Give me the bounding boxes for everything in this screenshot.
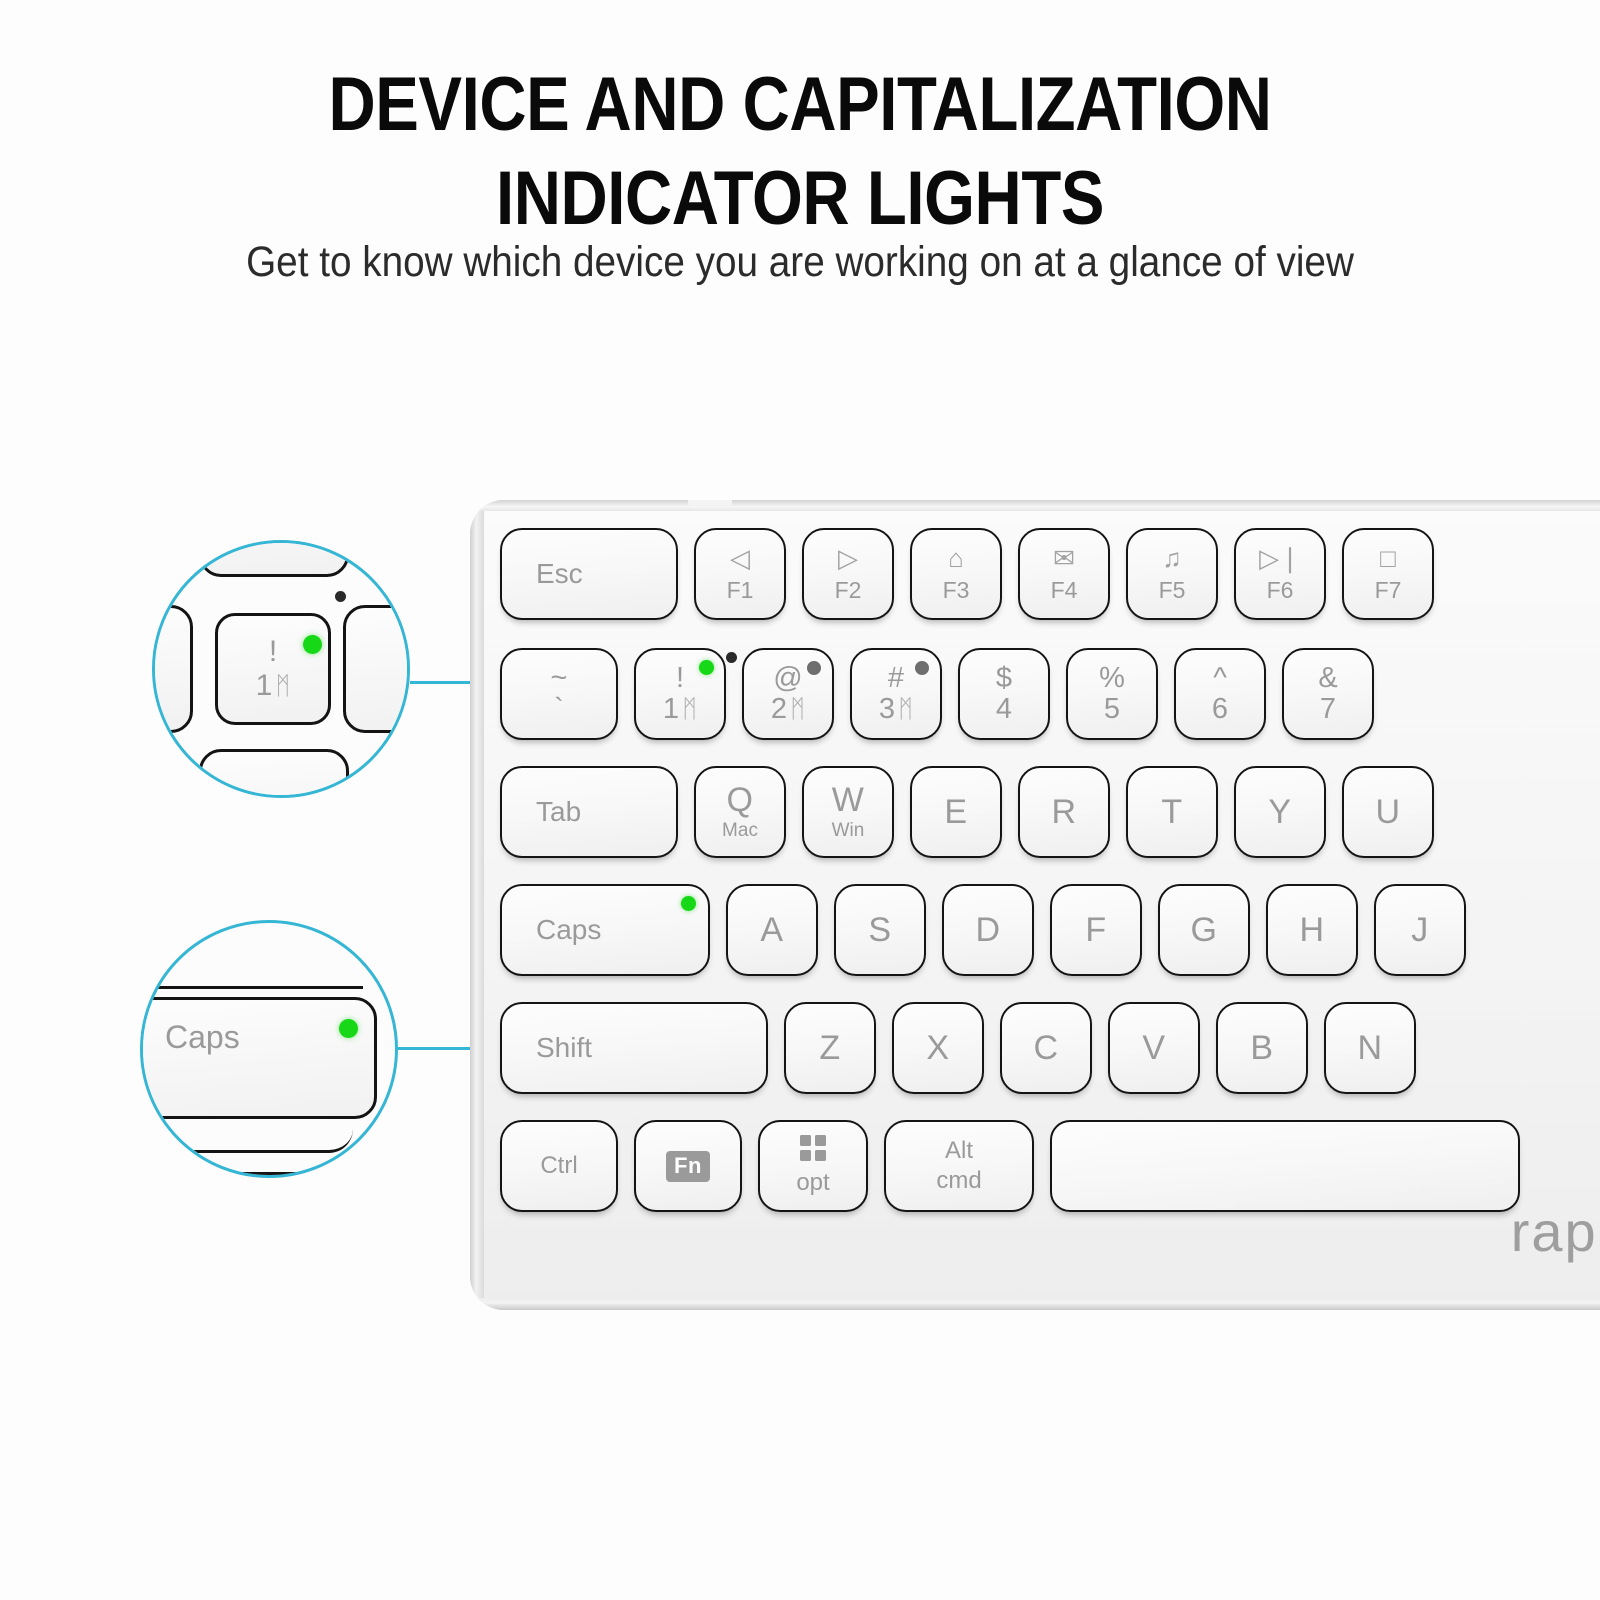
key-u-label: U — [1375, 795, 1400, 829]
callout-neighbor-key-bottom — [199, 749, 349, 798]
keyboard-notch — [688, 500, 732, 508]
key-q-sublabel: Mac — [722, 820, 758, 842]
key-6-lower: 6 — [1212, 694, 1228, 725]
key-f6-label: F6 — [1267, 577, 1294, 604]
key-v-label: V — [1142, 1031, 1165, 1065]
key-n[interactable]: N — [1324, 1002, 1416, 1094]
key-tab[interactable]: Tab — [500, 766, 678, 858]
key-alt-label: Alt — [936, 1136, 981, 1166]
callout-key-edge-bottom — [140, 1127, 353, 1153]
key-4[interactable]: $4 — [958, 648, 1050, 740]
modifier-row: Ctrl Fn opt Alt cmd — [500, 1120, 1600, 1212]
callout-caps-key: Caps — [140, 920, 398, 1178]
key-esc[interactable]: Esc — [500, 528, 678, 620]
key-rows: Esc ◁ F1 ▷ F2 ⌂ F3 ✉ F4 — [500, 528, 1600, 1212]
key-shift[interactable]: Shift — [500, 1002, 768, 1094]
callout-caps-label: Caps — [165, 1019, 240, 1056]
key-f[interactable]: F — [1050, 884, 1142, 976]
key-b-label: B — [1250, 1031, 1273, 1065]
key-z[interactable]: Z — [784, 1002, 876, 1094]
callout-caps-key-body — [140, 997, 377, 1119]
forward-icon: ▷ — [838, 545, 858, 571]
key-f4[interactable]: ✉ F4 — [1018, 528, 1110, 620]
led-indicator-green — [681, 896, 696, 911]
key-7-upper: & — [1318, 663, 1337, 694]
home-row: Caps A S D F G H J — [500, 884, 1600, 976]
key-w-sublabel: Win — [832, 820, 865, 842]
music-icon: ♫ — [1162, 545, 1182, 571]
key-f3-label: F3 — [943, 577, 970, 604]
key-h[interactable]: H — [1266, 884, 1358, 976]
keyboard-bottom-rim — [470, 1298, 1600, 1310]
key-a-label: A — [760, 913, 783, 947]
key-s[interactable]: S — [834, 884, 926, 976]
key-tab-label: Tab — [536, 796, 581, 828]
key-f5-label: F5 — [1159, 577, 1186, 604]
key-cmd-label: cmd — [936, 1166, 981, 1196]
key-f6[interactable]: ▷❘ F6 — [1234, 528, 1326, 620]
page-title-line2: INDICATOR LIGHTS — [112, 152, 1488, 246]
key-v[interactable]: V — [1108, 1002, 1200, 1094]
key-2-upper: @ — [773, 663, 802, 694]
key-f1[interactable]: ◁ F1 — [694, 528, 786, 620]
key-y[interactable]: Y — [1234, 766, 1326, 858]
key-3-lower: 3 — [879, 694, 895, 725]
key-h-label: H — [1299, 913, 1324, 947]
key-1-upper: ! — [676, 663, 684, 694]
key-space[interactable] — [1050, 1120, 1520, 1212]
key-f5[interactable]: ♫ F5 — [1126, 528, 1218, 620]
fn-badge-icon: Fn — [666, 1151, 710, 1182]
key-y-label: Y — [1268, 795, 1291, 829]
callout-neighbor-key-right — [343, 605, 410, 733]
stop-icon: □ — [1380, 545, 1396, 571]
key-c[interactable]: C — [1000, 1002, 1092, 1094]
key-r[interactable]: R — [1018, 766, 1110, 858]
callout-key-edge-bottom2 — [140, 1155, 333, 1175]
key-q[interactable]: Q Mac — [694, 766, 786, 858]
key-f4-label: F4 — [1051, 577, 1078, 604]
key-shift-label: Shift — [536, 1032, 592, 1064]
key-6[interactable]: ^6 — [1174, 648, 1266, 740]
key-caps-label: Caps — [536, 914, 601, 946]
key-4-lower: 4 — [996, 694, 1012, 725]
bluetooth-icon: ᛗ — [790, 696, 805, 723]
key-f7[interactable]: □ F7 — [1342, 528, 1434, 620]
key-tilde-upper: ~ — [551, 663, 568, 694]
key-e[interactable]: E — [910, 766, 1002, 858]
key-x[interactable]: X — [892, 1002, 984, 1094]
key-5[interactable]: %5 — [1066, 648, 1158, 740]
led-indicator-green — [699, 660, 714, 675]
key-a[interactable]: A — [726, 884, 818, 976]
key-w[interactable]: W Win — [802, 766, 894, 858]
home-icon: ⌂ — [948, 545, 964, 571]
bluetooth-icon: ᛗ — [898, 696, 913, 723]
page-title-line1: DEVICE AND CAPITALIZATION — [112, 58, 1488, 152]
qwerty-row: Tab Q Mac W Win E R T Y U — [500, 766, 1600, 858]
keyboard-top-rim — [470, 500, 1600, 511]
key-g-label: G — [1191, 913, 1218, 947]
key-f7-label: F7 — [1375, 577, 1402, 604]
key-windows[interactable]: opt — [758, 1120, 868, 1212]
led-indicator-green — [303, 635, 322, 654]
callout-bluetooth-key: ! 1 ᛗ — [152, 540, 410, 798]
callout-key-edge-top — [140, 959, 363, 989]
brand-logo: rapoo — [1511, 1199, 1600, 1264]
key-1-lower: 1 — [663, 694, 679, 725]
bluetooth-icon: ᛗ — [682, 696, 697, 723]
key-t[interactable]: T — [1126, 766, 1218, 858]
callout-neighbor-key-top — [199, 540, 349, 577]
key-esc-label: Esc — [536, 558, 583, 590]
key-5-lower: 5 — [1104, 694, 1120, 725]
key-2-lower: 2 — [771, 694, 787, 725]
key-tilde[interactable]: ~ ` — [500, 648, 618, 740]
key-d[interactable]: D — [942, 884, 1034, 976]
status-pin-dot — [335, 591, 346, 602]
callout-key-upper-label: ! — [269, 637, 277, 667]
key-5-upper: % — [1099, 663, 1125, 694]
bluetooth-icon: ᛗ — [275, 674, 290, 699]
key-j-label: J — [1411, 913, 1429, 947]
key-3-upper: # — [888, 663, 904, 694]
key-n-label: N — [1357, 1031, 1382, 1065]
key-alt-cmd[interactable]: Alt cmd — [884, 1120, 1034, 1212]
led-indicator-grey — [807, 661, 821, 675]
key-s-label: S — [868, 913, 891, 947]
key-e-label: E — [944, 795, 967, 829]
key-f1-label: F1 — [727, 577, 754, 604]
back-icon: ◁ — [730, 545, 750, 571]
key-2[interactable]: @ 2ᛗ — [742, 648, 834, 740]
key-x-label: X — [926, 1031, 949, 1065]
key-j[interactable]: J — [1374, 884, 1466, 976]
key-w-label: W — [832, 783, 865, 817]
keyboard: Esc ◁ F1 ▷ F2 ⌂ F3 ✉ F4 — [470, 500, 1600, 1310]
key-c-label: C — [1033, 1031, 1058, 1065]
key-f3[interactable]: ⌂ F3 — [910, 528, 1002, 620]
key-ctrl-label: Ctrl — [540, 1153, 577, 1178]
key-7-lower: 7 — [1320, 694, 1336, 725]
callout-neighbor-key-left — [152, 605, 193, 733]
bottom-letter-row: Shift Z X C V B N — [500, 1002, 1600, 1094]
key-f2[interactable]: ▷ F2 — [802, 528, 894, 620]
key-7[interactable]: &7 — [1282, 648, 1374, 740]
function-row: Esc ◁ F1 ▷ F2 ⌂ F3 ✉ F4 — [500, 528, 1600, 620]
key-b[interactable]: B — [1216, 1002, 1308, 1094]
key-q-label: Q — [727, 783, 754, 817]
key-f2-label: F2 — [835, 577, 862, 604]
play-pause-icon: ▷❘ — [1259, 545, 1301, 571]
key-3[interactable]: # 3ᛗ — [850, 648, 942, 740]
page-subtitle: Get to know which device you are working… — [80, 238, 1520, 287]
key-g[interactable]: G — [1158, 884, 1250, 976]
key-d-label: D — [975, 913, 1000, 947]
key-ctrl[interactable]: Ctrl — [500, 1120, 618, 1212]
key-fn[interactable]: Fn — [634, 1120, 742, 1212]
key-1[interactable]: ! 1ᛗ — [634, 648, 726, 740]
callout-key-1: ! 1 ᛗ — [215, 613, 331, 725]
key-tilde-lower: ` — [554, 694, 564, 725]
number-row: ~ ` ! 1ᛗ @ 2ᛗ — [500, 648, 1600, 740]
key-t-label: T — [1161, 795, 1182, 829]
windows-icon — [800, 1135, 826, 1161]
key-f-label: F — [1085, 913, 1106, 947]
key-caps[interactable]: Caps — [500, 884, 710, 976]
key-4-upper: $ — [996, 663, 1012, 694]
key-z-label: Z — [819, 1031, 840, 1065]
key-u[interactable]: U — [1342, 766, 1434, 858]
led-indicator-green — [339, 1019, 358, 1038]
callout-key-lower-label: 1 — [256, 671, 273, 701]
page-root: DEVICE AND CAPITALIZATION INDICATOR LIGH… — [0, 0, 1600, 1600]
key-r-label: R — [1051, 795, 1076, 829]
mail-icon: ✉ — [1053, 545, 1075, 571]
key-6-upper: ^ — [1213, 663, 1227, 694]
page-title: DEVICE AND CAPITALIZATION INDICATOR LIGH… — [112, 58, 1488, 246]
key-windows-label: opt — [796, 1169, 829, 1197]
led-indicator-grey — [915, 661, 929, 675]
